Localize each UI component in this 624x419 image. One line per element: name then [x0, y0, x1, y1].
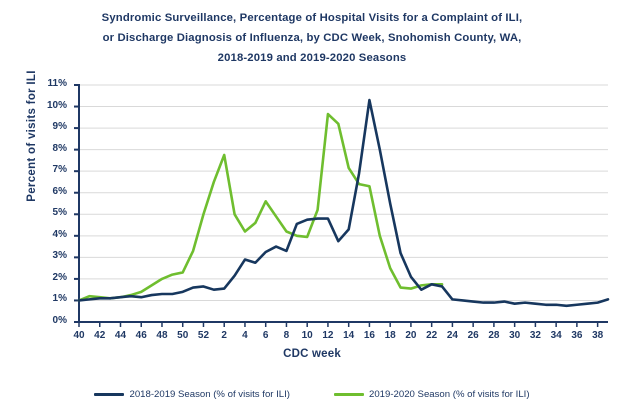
series-line-2018-2019 [79, 100, 608, 306]
legend-swatch-icon [94, 393, 124, 396]
chart-legend: 2018-2019 Season (% of visits for ILI)20… [0, 389, 624, 400]
legend-swatch-icon [334, 393, 364, 396]
series-line-2019-2020 [79, 114, 442, 300]
legend-item-1[interactable]: 2019-2020 Season (% of visits for ILI) [334, 389, 530, 400]
legend-item-0[interactable]: 2018-2019 Season (% of visits for ILI) [94, 389, 290, 400]
plot-area [0, 0, 624, 419]
legend-label: 2018-2019 Season (% of visits for ILI) [129, 389, 290, 400]
ili-surveillance-line-chart: Syndromic Surveillance, Percentage of Ho… [0, 0, 624, 419]
legend-label: 2019-2020 Season (% of visits for ILI) [369, 389, 530, 400]
